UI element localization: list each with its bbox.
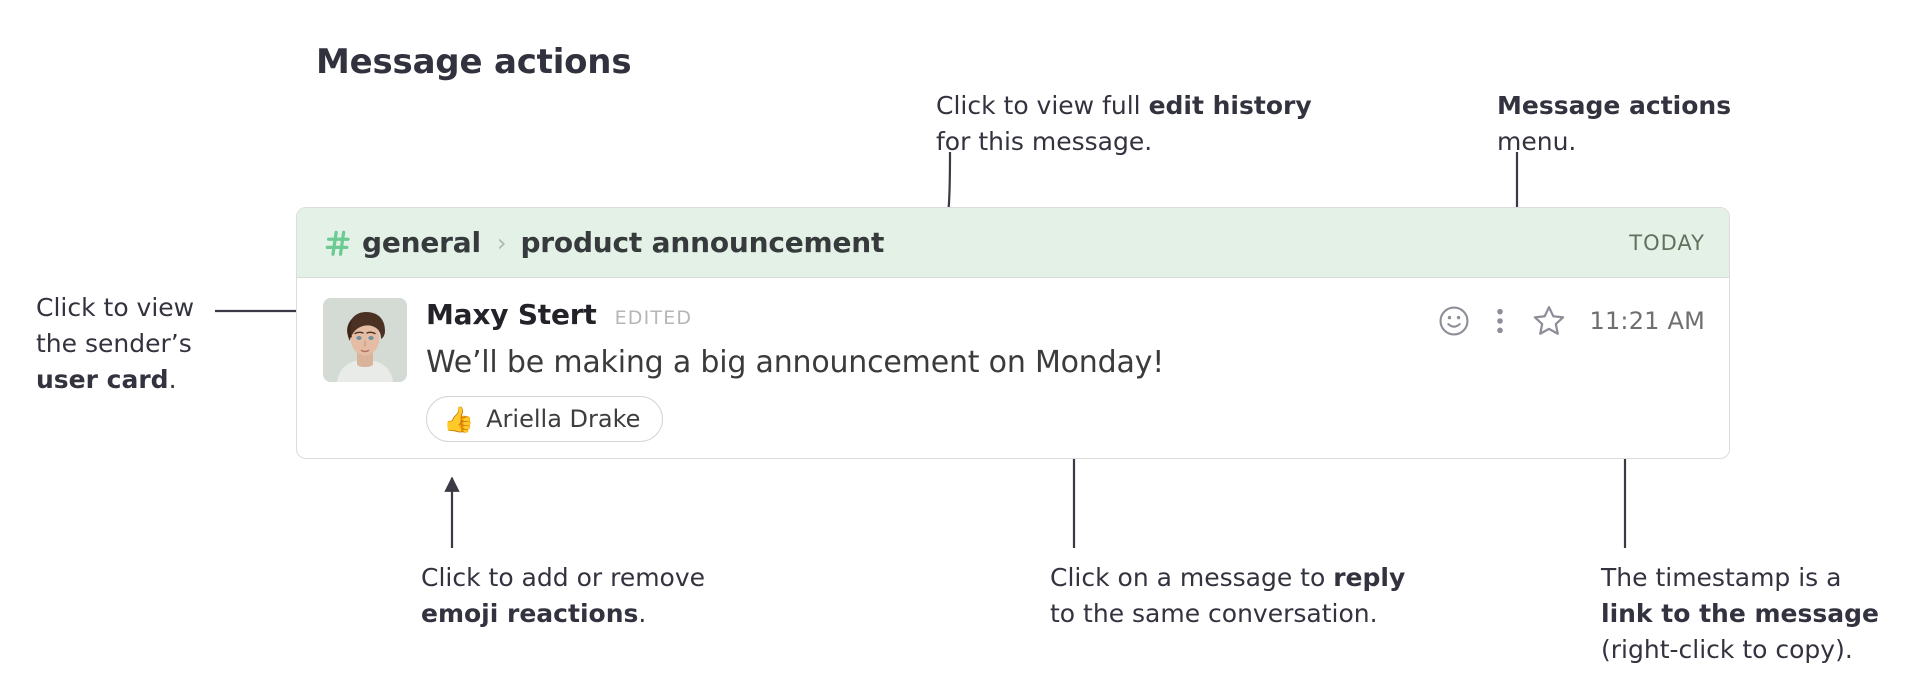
reaction-label: Ariella Drake [486, 405, 640, 433]
annotation-emoji-text1: Click to add or remove [421, 560, 705, 596]
message-actions-menu-button[interactable] [1495, 305, 1531, 337]
add-reaction-button[interactable] [1437, 304, 1495, 338]
annotation-timestamp-text1: The timestamp is a [1601, 560, 1879, 596]
edited-badge[interactable]: EDITED [615, 307, 693, 329]
message-actions-toolbar: 11:21 AM [1437, 303, 1705, 339]
star-icon [1531, 303, 1567, 339]
topic-name[interactable]: product announcement [520, 226, 884, 259]
annotation-user-card-period: . [169, 365, 177, 394]
annotation-timestamp: The timestamp is a link to the message (… [1601, 560, 1879, 668]
kebab-menu-icon [1495, 305, 1505, 337]
thumbs-up-icon: 👍 [443, 407, 474, 432]
date-label: TODAY [1629, 231, 1705, 255]
reaction-pill[interactable]: 👍 Ariella Drake [426, 396, 663, 442]
annotation-reply: Click on a message to reply to the same … [1050, 560, 1405, 632]
breadcrumb-separator-icon: › [497, 231, 507, 255]
avatar[interactable] [323, 298, 407, 382]
annotation-emoji-period: . [638, 599, 646, 628]
message-card: general › product announcement TODAY [296, 207, 1730, 459]
annotation-emoji-reactions: Click to add or remove emoji reactions. [421, 560, 705, 632]
hash-icon [323, 228, 353, 258]
annotation-actions-menu: Message actions menu. [1497, 88, 1731, 160]
annotation-user-card: Click to view the sender’s user card. [36, 290, 194, 398]
annotation-user-card-text2: the sender’s [36, 326, 194, 362]
annotation-actions-menu-text2: menu. [1497, 124, 1731, 160]
annotation-edit-history: Click to view full edit history for this… [936, 88, 1312, 160]
add-reaction-icon [1437, 304, 1471, 338]
annotation-timestamp-text3: (right-click to copy). [1601, 632, 1879, 668]
annotation-emoji-bold: emoji reactions [421, 599, 638, 628]
annotation-actions-menu-bold: Message actions [1497, 91, 1731, 120]
annotation-reply-text1: Click on a message to [1050, 563, 1333, 592]
annotation-reply-bold: reply [1333, 563, 1405, 592]
reactions-row: 👍 Ariella Drake [426, 396, 1705, 442]
sender-name[interactable]: Maxy Stert [426, 298, 597, 331]
annotation-edit-history-text1: Click to view full [936, 91, 1149, 120]
avatar-image [323, 298, 407, 382]
annotation-reply-text2: to the same conversation. [1050, 596, 1405, 632]
page-title: Message actions [316, 42, 631, 82]
annotation-user-card-text1: Click to view [36, 290, 194, 326]
message-timestamp-link[interactable]: 11:21 AM [1589, 307, 1705, 335]
message-body[interactable]: We’ll be making a big announcement on Mo… [426, 345, 1705, 380]
channel-header: general › product announcement TODAY [297, 208, 1729, 278]
channel-name[interactable]: general [362, 226, 481, 259]
annotation-timestamp-bold: link to the message [1601, 599, 1879, 628]
star-message-button[interactable] [1531, 303, 1589, 339]
annotation-user-card-bold: user card [36, 365, 169, 394]
annotation-edit-history-bold: edit history [1149, 91, 1312, 120]
annotation-edit-history-text2: for this message. [936, 124, 1312, 160]
message-row[interactable]: Maxy Stert EDITED We’ll be making a big … [297, 278, 1729, 442]
